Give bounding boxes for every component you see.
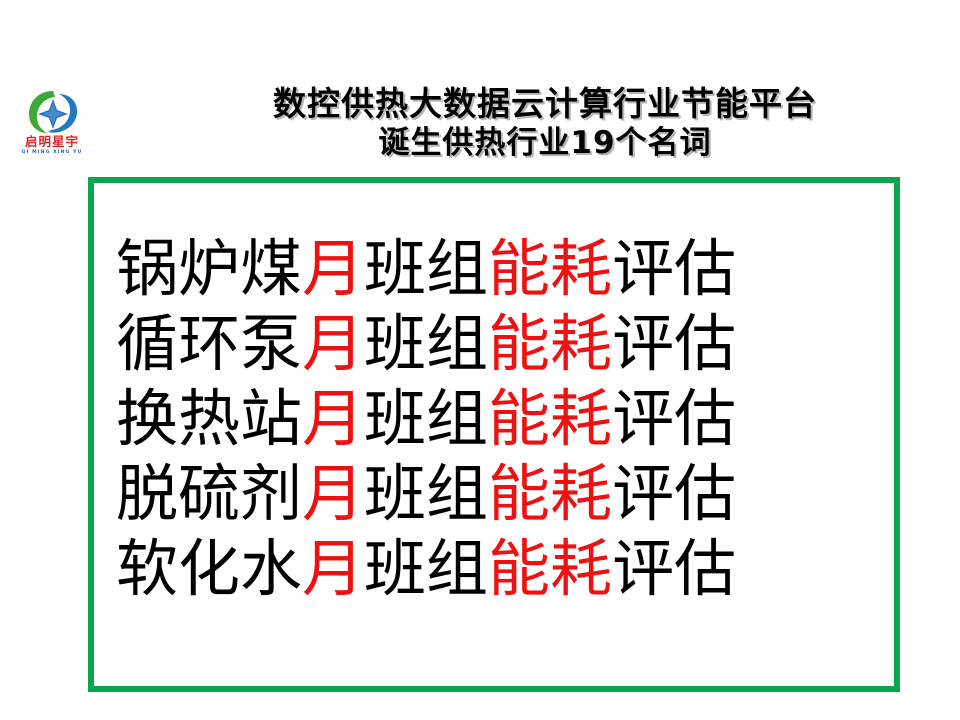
term-segment: 评估 xyxy=(612,457,736,530)
term-segment: 班组 xyxy=(364,532,488,605)
term-segment: 评估 xyxy=(612,382,736,455)
logo-name-cn: 启明星宇 xyxy=(12,135,92,149)
term-segment: 评估 xyxy=(612,532,736,605)
title-line-1: 数控供热大数据云计算行业节能平台 xyxy=(150,84,940,124)
term-segment-highlight: 能耗 xyxy=(488,307,612,380)
swoosh-star-logo-icon xyxy=(26,88,80,136)
logo-name-en: QI MING XING YU xyxy=(12,150,92,156)
term-row: 脱硫剂月班组能耗评估 xyxy=(116,456,884,531)
term-segment: 评估 xyxy=(612,232,736,305)
term-row: 软化水月班组能耗评估 xyxy=(116,531,884,606)
slide-title: 数控供热大数据云计算行业节能平台 诞生供热行业19个名词 xyxy=(150,84,940,162)
term-segment-highlight: 能耗 xyxy=(488,457,612,530)
term-segment-highlight: 月 xyxy=(302,232,364,305)
content-frame: 锅炉煤月班组能耗评估循环泵月班组能耗评估换热站月班组能耗评估脱硫剂月班组能耗评估… xyxy=(88,177,900,692)
term-segment: 换热站 xyxy=(116,382,302,455)
term-segment: 评估 xyxy=(612,307,736,380)
slide-canvas: 启明星宇 QI MING XING YU 数控供热大数据云计算行业节能平台 诞生… xyxy=(0,0,960,720)
term-segment: 班组 xyxy=(364,382,488,455)
term-segment: 班组 xyxy=(364,307,488,380)
term-row: 换热站月班组能耗评估 xyxy=(116,381,884,456)
term-segment-highlight: 能耗 xyxy=(488,532,612,605)
term-segment: 锅炉煤 xyxy=(116,232,302,305)
term-list: 锅炉煤月班组能耗评估循环泵月班组能耗评估换热站月班组能耗评估脱硫剂月班组能耗评估… xyxy=(116,231,884,606)
term-row: 锅炉煤月班组能耗评估 xyxy=(116,231,884,306)
term-segment: 循环泵 xyxy=(116,307,302,380)
term-segment-highlight: 能耗 xyxy=(488,382,612,455)
term-row: 循环泵月班组能耗评估 xyxy=(116,306,884,381)
term-segment-highlight: 能耗 xyxy=(488,232,612,305)
term-segment-highlight: 月 xyxy=(302,457,364,530)
term-segment: 班组 xyxy=(364,457,488,530)
term-segment: 脱硫剂 xyxy=(116,457,302,530)
term-segment: 班组 xyxy=(364,232,488,305)
term-segment-highlight: 月 xyxy=(302,307,364,380)
term-segment-highlight: 月 xyxy=(302,382,364,455)
company-logo: 启明星宇 QI MING XING YU xyxy=(12,88,92,166)
term-segment: 软化水 xyxy=(116,532,302,605)
term-segment-highlight: 月 xyxy=(302,532,364,605)
title-line-2: 诞生供热行业19个名词 xyxy=(150,124,940,162)
